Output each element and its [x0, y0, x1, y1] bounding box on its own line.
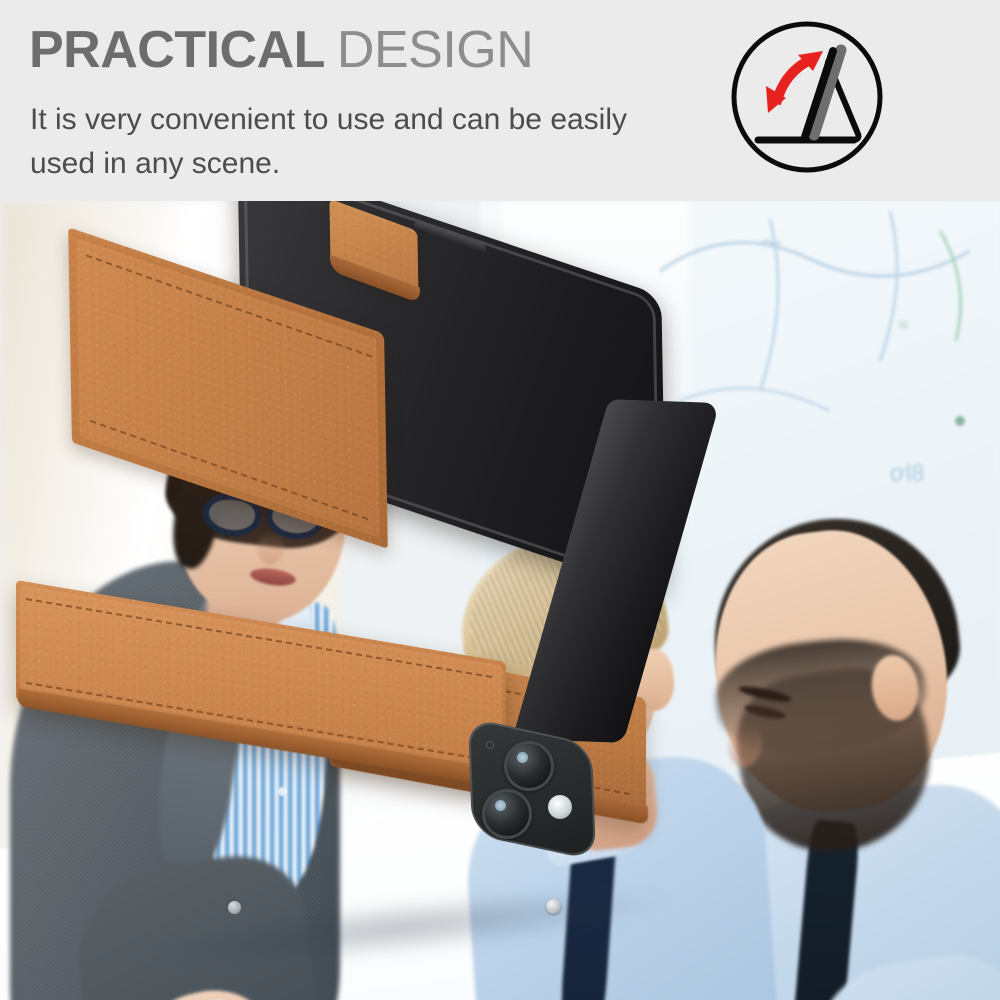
- title-word-bold: PRACTICAL: [29, 21, 325, 79]
- product-drop-shadow: [119, 872, 682, 984]
- camera-flash: [548, 795, 572, 819]
- page-subtitle: It is very convenient to use and can be …: [30, 98, 630, 186]
- lens-glint: [517, 752, 528, 763]
- magnetic-snap-button: [546, 899, 561, 914]
- camera-lens: [504, 741, 554, 791]
- product-feature-banner: PRACTICALDESIGN It is very convenient to…: [0, 0, 1000, 1000]
- camera-microphone: [486, 741, 494, 749]
- leather-wallet-phone-case: [0, 201, 1000, 1000]
- page-title: PRACTICALDESIGN: [29, 21, 533, 79]
- lifestyle-photo: ～ ≈ ơl8: [0, 201, 1000, 1000]
- adjustable-kickstand-icon: [728, 18, 886, 176]
- magnetic-snap-button: [228, 901, 241, 914]
- header-band: PRACTICALDESIGN It is very convenient to…: [0, 0, 1000, 201]
- camera-lens: [482, 789, 532, 839]
- title-word-light: DESIGN: [337, 21, 533, 79]
- lens-glint: [495, 800, 506, 811]
